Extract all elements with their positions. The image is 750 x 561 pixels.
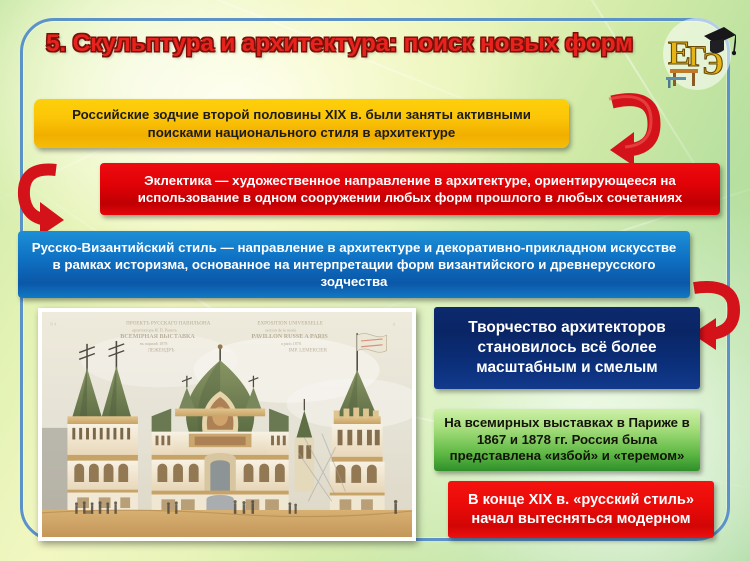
statement-box-russo-byzantine-text: Русско-Византийский стиль — направление … xyxy=(18,239,690,290)
russian-pavilion-engraving: ПРОЕКТЪ РУССКАГО ПАВИЛЬОНА архитекторъ И… xyxy=(42,312,412,537)
statement-box-world-expos-text: На всемирных выставках в Париже в 1867 и… xyxy=(434,415,700,466)
statement-box-creativity-text: Творчество архитекторов становилось всё … xyxy=(434,318,700,377)
statement-box-eclecticism: Эклектика — художественное направление в… xyxy=(100,163,720,215)
statement-box-modern-style-text: В конце XIX в. «русский стиль» начал выт… xyxy=(448,491,714,528)
ege-logo: Е Г Э xyxy=(658,14,736,94)
statement-box-architects: Российские зодчие второй половины XIX в.… xyxy=(34,99,569,148)
statement-box-world-expos: На всемирных выставках в Париже в 1867 и… xyxy=(434,409,700,471)
arrow-top-right xyxy=(598,88,670,166)
statement-box-architects-text: Российские зодчие второй половины XIX в.… xyxy=(34,106,569,140)
architecture-illustration: ПРОЕКТЪ РУССКАГО ПАВИЛЬОНА архитекторъ И… xyxy=(38,308,416,541)
statement-box-russo-byzantine: Русско-Византийский стиль — направление … xyxy=(18,231,690,298)
arrow-left-mid xyxy=(12,160,78,236)
statement-box-modern-style: В конце XIX в. «русский стиль» начал выт… xyxy=(448,481,714,538)
statement-box-eclecticism-text: Эклектика — художественное направление в… xyxy=(100,172,720,206)
statement-box-creativity: Творчество архитекторов становилось всё … xyxy=(434,307,700,389)
page-title: 5. Скульптура и архитектура: поиск новых… xyxy=(46,30,676,58)
